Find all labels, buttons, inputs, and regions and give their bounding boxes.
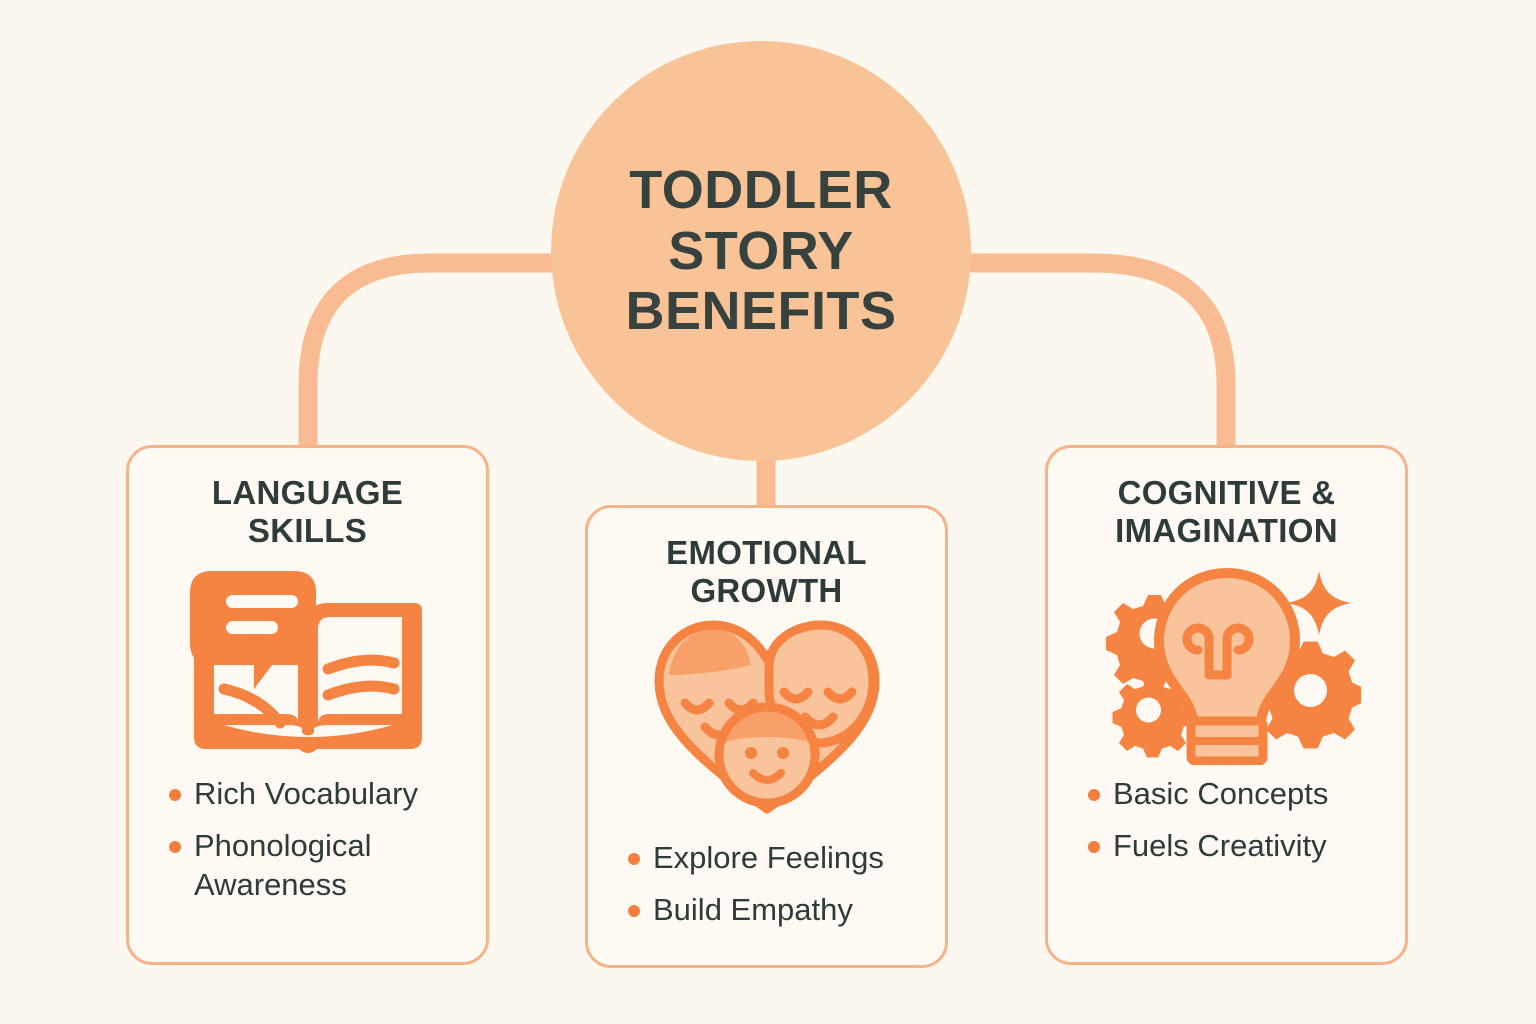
lightbulb-gears-sparkle-icon	[1093, 565, 1361, 765]
bullet-label: Rich Vocabulary	[194, 775, 418, 814]
bullet-item: Build Empathy	[628, 891, 927, 930]
bullet-dot-icon	[169, 789, 181, 801]
hub-title: TODDLER STORY BENEFITS	[597, 160, 924, 341]
card-title-emotional-growth: EMOTIONAL GROWTH	[666, 534, 867, 611]
bullet-label: Basic Concepts	[1113, 775, 1328, 814]
bullet-dot-icon	[169, 841, 181, 853]
bullet-item: Rich Vocabulary	[169, 775, 468, 814]
bullet-item: Basic Concepts	[1088, 775, 1387, 814]
bullet-dot-icon	[628, 853, 640, 865]
open-book-speech-bubble-icon	[188, 565, 428, 765]
bullet-label: Build Empathy	[653, 891, 853, 930]
open-book-speech-bubble-glyph	[188, 565, 428, 765]
bullet-item: Explore Feelings	[628, 839, 927, 878]
bullet-label: Fuels Creativity	[1113, 827, 1327, 866]
bullet-dot-icon	[1088, 841, 1100, 853]
bullet-dot-icon	[628, 905, 640, 917]
card-cognitive-imagination[interactable]: COGNITIVE & IMAGINATION	[1045, 445, 1408, 965]
bullet-list-cognitive-imagination: Basic Concepts Fuels Creativity	[1066, 775, 1387, 881]
bullet-label: Phonological Awareness	[194, 827, 468, 905]
bullet-item: Phonological Awareness	[169, 827, 468, 905]
card-emotional-growth[interactable]: EMOTIONAL GROWTH	[585, 505, 948, 968]
card-title-cognitive-imagination: COGNITIVE & IMAGINATION	[1115, 474, 1338, 551]
connector-right	[962, 263, 1226, 452]
bullet-label: Explore Feelings	[653, 839, 884, 878]
central-hub: TODDLER STORY BENEFITS	[551, 41, 971, 461]
card-language-skills[interactable]: LANGUAGE SKILLS	[126, 445, 489, 965]
bullet-dot-icon	[1088, 789, 1100, 801]
heart-family-faces-icon	[651, 617, 883, 817]
connector-left	[308, 263, 560, 452]
bullet-item: Fuels Creativity	[1088, 827, 1387, 866]
lightbulb-gears-sparkle-glyph	[1093, 565, 1361, 765]
bullet-list-language-skills: Rich Vocabulary Phonological Awareness	[147, 775, 468, 919]
infographic-canvas: TODDLER STORY BENEFITS LANGUAGE SKILLS	[0, 0, 1536, 1024]
heart-family-faces-glyph	[651, 617, 883, 817]
bullet-list-emotional-growth: Explore Feelings Build Empathy	[606, 839, 927, 945]
card-title-language-skills: LANGUAGE SKILLS	[212, 474, 403, 551]
